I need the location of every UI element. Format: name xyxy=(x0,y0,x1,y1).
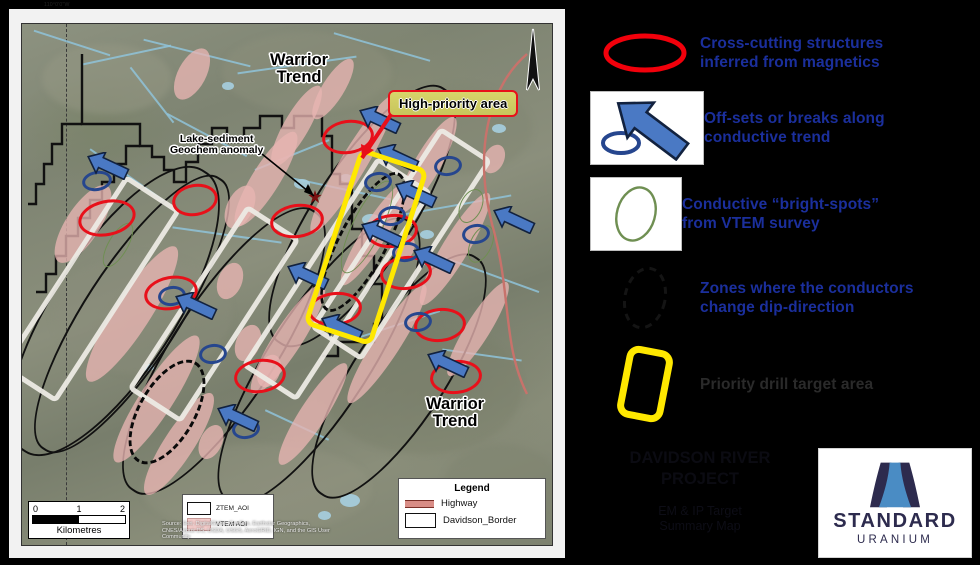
legend-item-priority-target: Priority drill target area xyxy=(590,340,980,428)
scale-tick: 2 xyxy=(120,504,125,514)
legend-item-dip-change: Zones where the conductors change dip-di… xyxy=(590,262,980,334)
legend-item-bright-spots: Conductive “bright-spots” from VTEM surv… xyxy=(590,178,980,250)
project-title: DAVIDSON RIVER PROJECT xyxy=(600,448,800,490)
map-legend-row: Highway xyxy=(405,498,539,509)
scale-bar: 0 1 2 Kilometres xyxy=(28,501,130,539)
davidson-border-swatch xyxy=(405,513,436,528)
map-legend: Legend Highway Davidson_Border xyxy=(398,478,546,539)
scale-tick: 0 xyxy=(33,504,38,514)
map-legend-title: Legend xyxy=(405,483,539,494)
legend-item-offsets: Off-sets or breaks along conductive tren… xyxy=(590,92,980,164)
map-panel: 110°0'0"W 110°0'0"W xyxy=(0,0,572,565)
geochem-leader-line xyxy=(260,152,320,202)
legend-item-cross-cutting: Cross-cutting structures inferred from m… xyxy=(590,24,980,82)
uranium-tower-logo-icon xyxy=(849,459,941,509)
legend-label: Off-sets or breaks along conductive tren… xyxy=(704,109,885,147)
map-legend-row: Davidson_Border xyxy=(405,513,539,528)
label-warrior-trend-bottom: Warrior Trend xyxy=(426,396,484,431)
blue-arrow-offset-icon xyxy=(590,91,704,165)
logo-wordmark: STANDARD xyxy=(833,511,957,532)
north-arrow-icon xyxy=(522,28,544,94)
high-priority-area-callout[interactable]: High-priority area xyxy=(388,90,518,117)
callout-leader-arrow xyxy=(352,108,396,168)
black-dashed-zone-icon xyxy=(590,262,700,334)
slide-root: 110°0'0"W 110°0'0"W xyxy=(0,0,980,565)
logo-subwordmark: URANIUM xyxy=(857,534,933,547)
label-geochem-anomaly: Lake-sediment Geochem anomaly xyxy=(170,134,263,156)
project-subtitle: EM & IP Target Summary Map xyxy=(600,504,800,534)
legend-label: Conductive “bright-spots” from VTEM surv… xyxy=(682,195,879,233)
source-attribution: Source: Esri, DigitalGlobe, GeoEye, Eart… xyxy=(162,521,342,541)
red-ellipse-icon xyxy=(590,24,700,82)
legend-label: Cross-cutting structures inferred from m… xyxy=(700,34,883,72)
legend-label: Priority drill target area xyxy=(700,375,873,394)
aoi-legend-row: ZTEM_AOI xyxy=(187,502,269,515)
scale-units: Kilometres xyxy=(32,525,126,536)
scale-tick: 1 xyxy=(76,504,81,514)
map-legend-label: Highway xyxy=(441,498,477,509)
aoi-legend-label: ZTEM_AOI xyxy=(216,505,249,512)
standard-uranium-logo: STANDARD URANIUM xyxy=(818,448,972,558)
green-ellipse-icon xyxy=(590,177,682,251)
scale-bar-graphic xyxy=(32,515,126,524)
label-warrior-trend-top: Warrior Trend xyxy=(270,52,328,87)
map-legend-label: Davidson_Border xyxy=(443,515,516,526)
ztem-aoi-swatch xyxy=(187,502,211,515)
yellow-box-icon xyxy=(590,340,700,428)
highway-swatch xyxy=(405,500,434,508)
legend-label: Zones where the conductors change dip-di… xyxy=(700,279,914,317)
